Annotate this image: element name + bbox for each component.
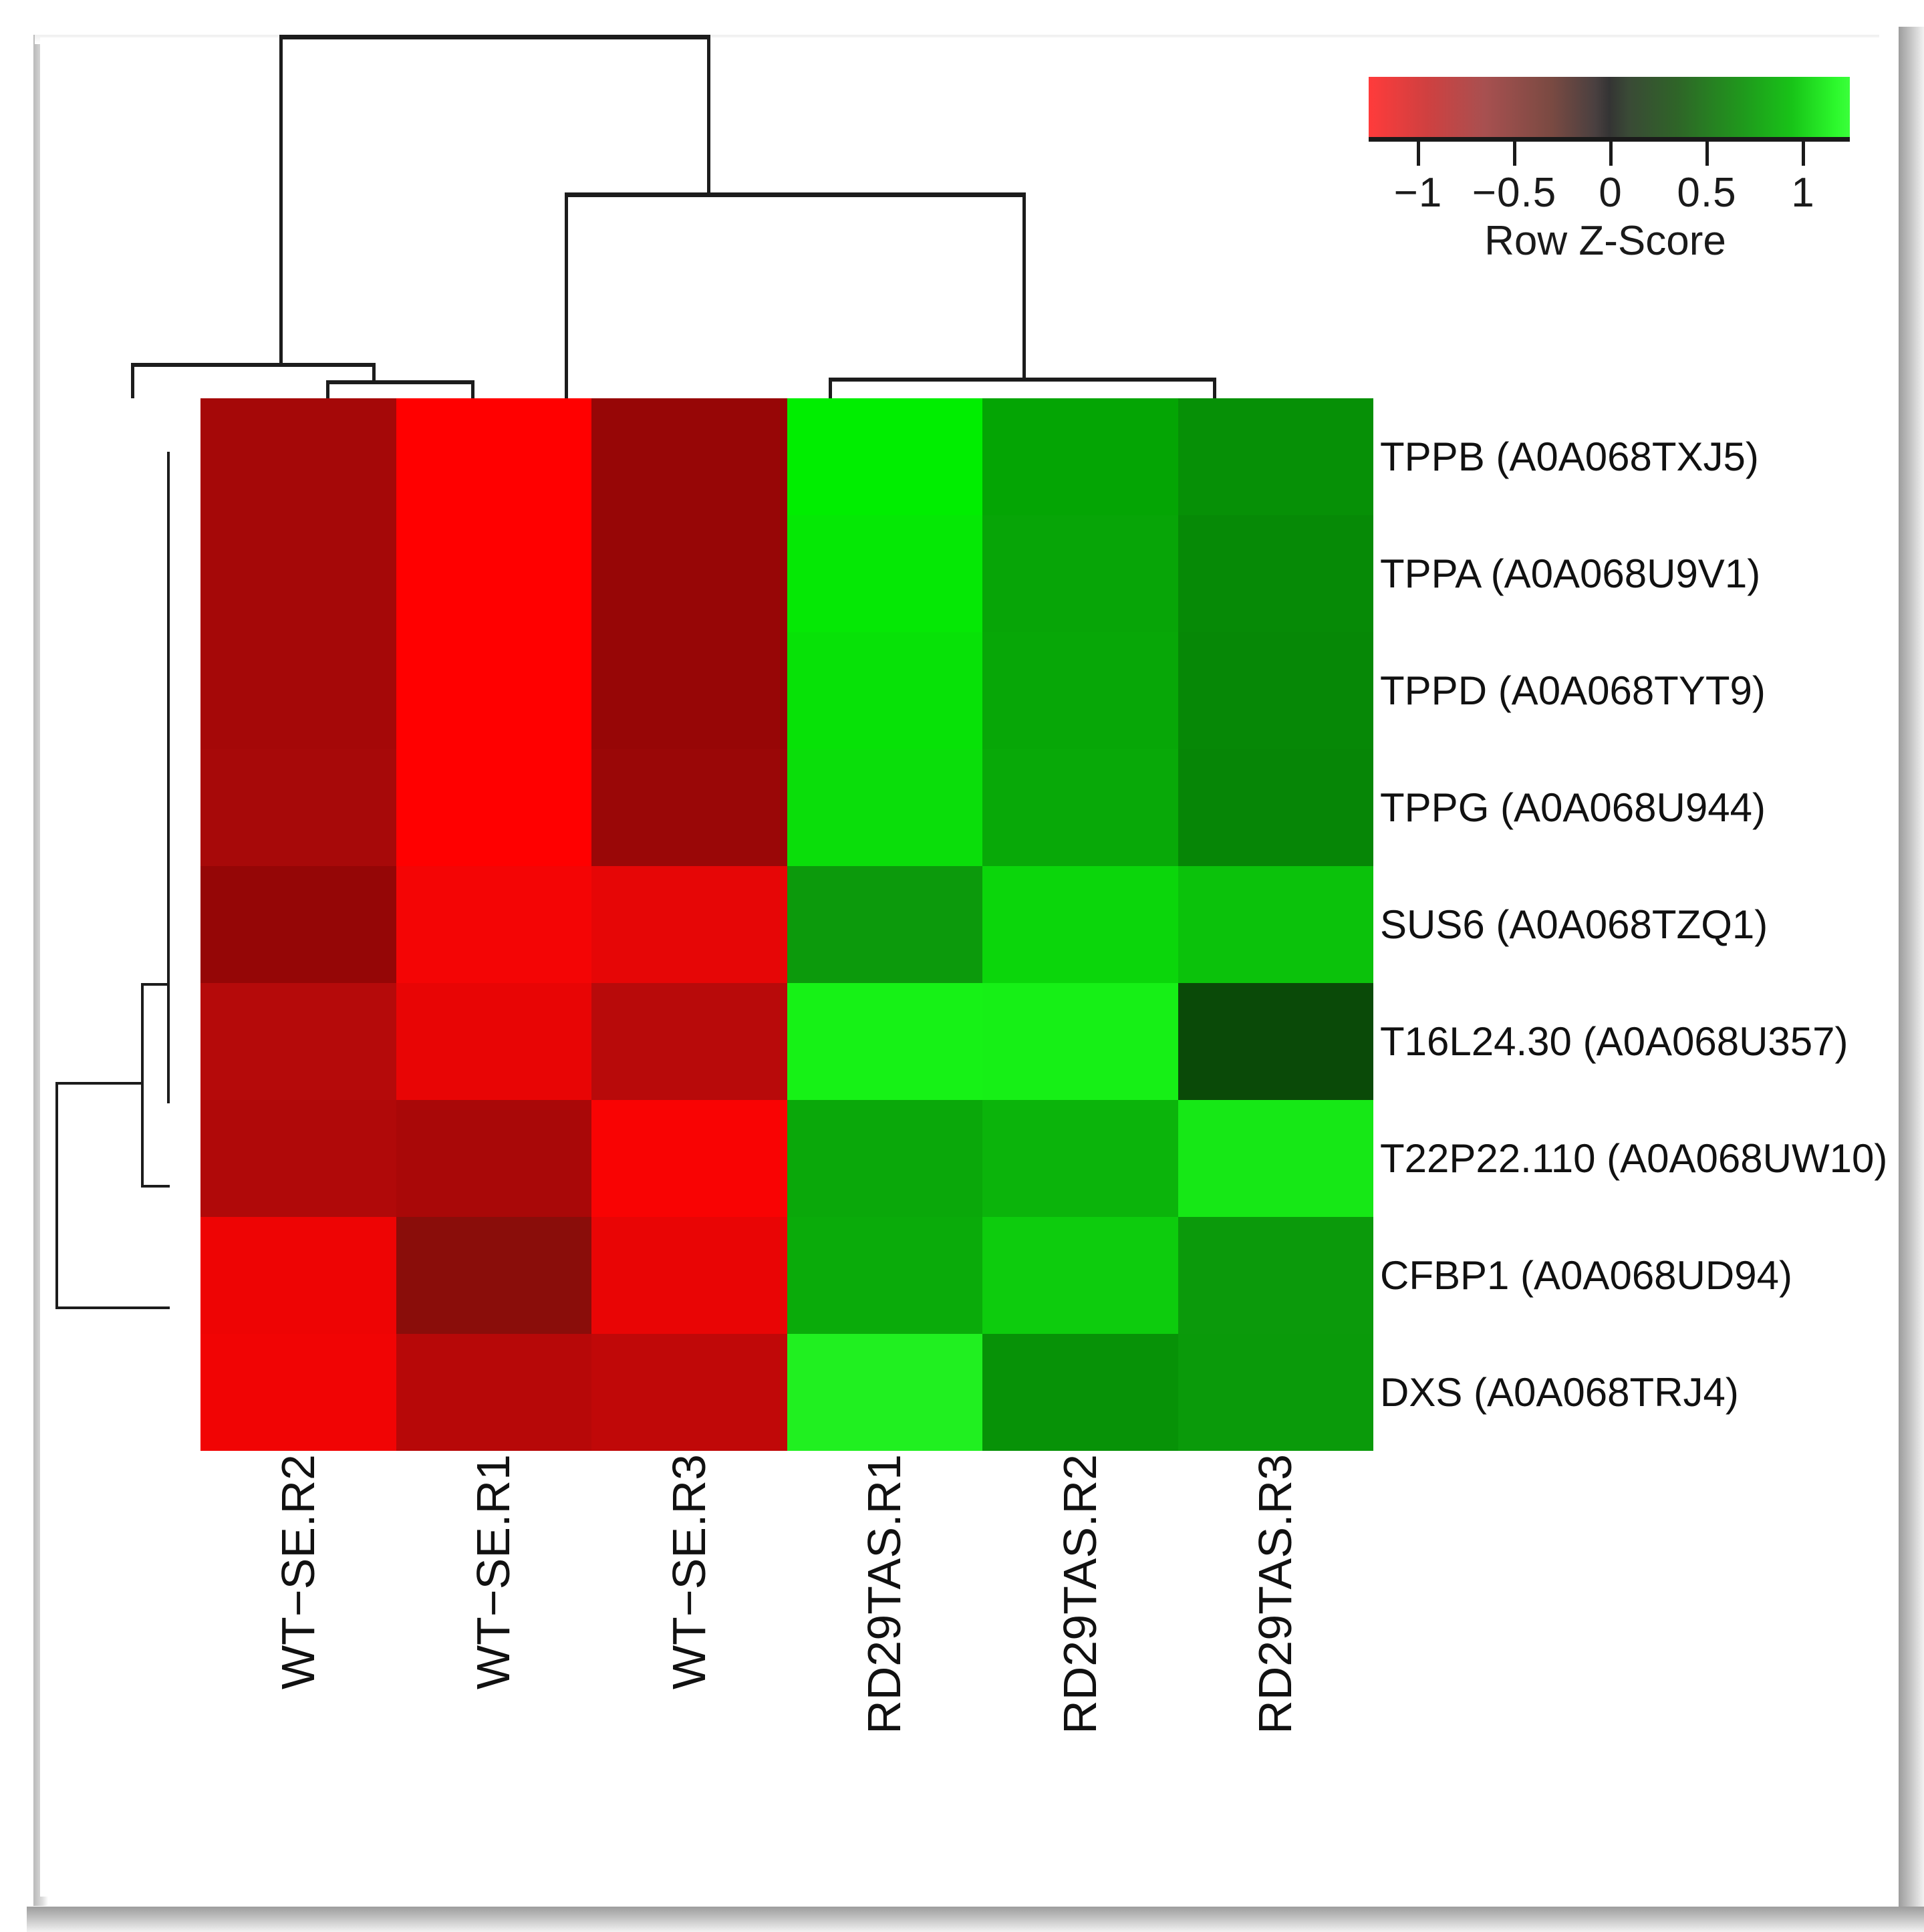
heatmap-cell bbox=[200, 866, 396, 983]
column-label-slot-3: RD29TAS.R1 bbox=[787, 1454, 982, 1882]
heatmap-cell bbox=[787, 632, 983, 749]
heatmap-cell bbox=[982, 866, 1178, 983]
heatmap-cell bbox=[787, 515, 983, 632]
heatmap-cell bbox=[396, 749, 592, 866]
row-label-list: TPPB (A0A068TXJ5) TPPA (A0A068U9V1) TPPD… bbox=[1380, 398, 1888, 1451]
heatmap-cell bbox=[200, 1334, 396, 1451]
heatmap-cell bbox=[982, 632, 1178, 749]
column-label-slot-2: WT−SE.R3 bbox=[591, 1454, 787, 1882]
heatmap-cell bbox=[1178, 983, 1374, 1100]
heatmap-cell bbox=[1178, 1100, 1374, 1217]
row-label-2: TPPD (A0A068TYT9) bbox=[1380, 632, 1766, 749]
row-label-4: SUS6 (A0A068TZQ1) bbox=[1380, 866, 1768, 983]
col-dendro-rd29-sub-horizontal bbox=[829, 378, 1216, 382]
frame-bevel-bottom bbox=[27, 1907, 1924, 1932]
heatmap-cell bbox=[1178, 866, 1374, 983]
heatmap-cell bbox=[787, 1100, 983, 1217]
column-label-slot-1: WT−SE.R1 bbox=[396, 1454, 591, 1882]
figure-frame: −1 −0.5 0 0.5 1 Row Z-Score bbox=[0, 0, 1924, 1932]
column-label-slot-4: RD29TAS.R2 bbox=[982, 1454, 1178, 1882]
col-dendro-root-left-vertical bbox=[279, 35, 283, 366]
row-label-8: DXS (A0A068TRJ4) bbox=[1380, 1334, 1739, 1451]
heatmap-cell bbox=[982, 749, 1178, 866]
heatmap-cell bbox=[591, 1334, 787, 1451]
heatmap-cell bbox=[982, 1334, 1178, 1451]
heatmap-cell bbox=[396, 398, 592, 515]
heatmap-cell bbox=[1178, 515, 1374, 632]
col-dendro-root-right-vertical bbox=[707, 35, 710, 195]
col-dendro-wt-leaf1-vertical bbox=[131, 363, 134, 398]
column-label-0: WT−SE.R2 bbox=[271, 1454, 325, 1689]
heatmap-cell bbox=[396, 866, 592, 983]
heatmap-cell bbox=[787, 749, 983, 866]
heatmap-cell bbox=[1178, 1217, 1374, 1334]
heatmap-cell bbox=[396, 515, 592, 632]
frame-bevel-right bbox=[1899, 27, 1924, 1932]
heatmap-cell bbox=[1178, 749, 1374, 866]
heatmap-cell bbox=[591, 1217, 787, 1334]
heatmap-cell bbox=[787, 983, 983, 1100]
heatmap-cell bbox=[396, 1334, 592, 1451]
heatmap-cell bbox=[1178, 1334, 1374, 1451]
heatmap-cell bbox=[787, 866, 983, 983]
col-dendro-rd29-leaf2-vertical bbox=[829, 378, 832, 399]
column-label-slot-0: WT−SE.R2 bbox=[200, 1454, 396, 1882]
col-dendro-rd29-leaf3-vertical bbox=[1213, 378, 1216, 399]
heatmap-cell bbox=[396, 983, 592, 1100]
heatmap-cell bbox=[591, 632, 787, 749]
heatmap-cell bbox=[1178, 398, 1374, 515]
heatmap-cell bbox=[200, 515, 396, 632]
row-label-3: TPPG (A0A068U944) bbox=[1380, 749, 1766, 866]
heatmap-cell bbox=[591, 749, 787, 866]
heatmap-cell bbox=[591, 398, 787, 515]
heatmap-cell bbox=[1178, 632, 1374, 749]
column-label-1: WT−SE.R1 bbox=[466, 1454, 520, 1689]
row-label-5: T16L24.30 (A0A068U357) bbox=[1380, 983, 1848, 1100]
heatmap-cell bbox=[200, 1100, 396, 1217]
column-label-list: WT−SE.R2 WT−SE.R1 WT−SE.R3 RD29TAS.R1 RD… bbox=[200, 1454, 1373, 1895]
heatmap-cell bbox=[982, 398, 1178, 515]
row-label-7: CFBP1 (A0A068UD94) bbox=[1380, 1217, 1792, 1334]
column-label-2: WT−SE.R3 bbox=[662, 1454, 716, 1689]
col-dendro-wt-leaf3-vertical bbox=[471, 380, 474, 399]
row-dendro-top-spine bbox=[167, 452, 170, 1103]
col-dendro-rd29-horizontal bbox=[565, 192, 1026, 197]
heatmap-cell bbox=[200, 632, 396, 749]
row-dendro-mid-bottom-horizontal bbox=[141, 1185, 170, 1188]
column-label-4: RD29TAS.R2 bbox=[1053, 1454, 1107, 1734]
heatmap-cell bbox=[591, 1100, 787, 1217]
row-label-1: TPPA (A0A068U9V1) bbox=[1380, 515, 1760, 632]
heatmap-cell bbox=[200, 398, 396, 515]
heatmap-cell bbox=[200, 983, 396, 1100]
heatmap-cell bbox=[982, 983, 1178, 1100]
heatmap-cell bbox=[591, 515, 787, 632]
heatmap-cell bbox=[787, 1217, 983, 1334]
col-dendro-wt-sub-horizontal bbox=[326, 380, 474, 384]
heatmap-cell bbox=[982, 515, 1178, 632]
heatmap-cell bbox=[396, 1100, 592, 1217]
column-label-slot-5: RD29TAS.R3 bbox=[1178, 1454, 1373, 1882]
heatmap-cell bbox=[591, 983, 787, 1100]
plot-canvas: −1 −0.5 0 0.5 1 Row Z-Score bbox=[40, 37, 1885, 1897]
row-dendro-mid-top-horizontal bbox=[141, 983, 170, 986]
col-dendro-root-horizontal bbox=[279, 35, 710, 39]
row-label-6: T22P22.110 (A0A068UW10) bbox=[1380, 1100, 1887, 1217]
column-label-3: RD29TAS.R1 bbox=[857, 1454, 911, 1734]
row-dendro-root-vertical bbox=[55, 1082, 58, 1309]
column-dendrogram bbox=[40, 37, 1885, 398]
col-dendro-rd29-leaf1-vertical bbox=[565, 192, 568, 398]
col-dendro-wt-horizontal bbox=[131, 363, 376, 367]
heatmap-cell bbox=[982, 1100, 1178, 1217]
heatmap-cell bbox=[982, 1217, 1178, 1334]
row-dendro-root-bottom-horizontal bbox=[55, 1306, 170, 1309]
heatmap-cell bbox=[787, 398, 983, 515]
heatmap-cell bbox=[396, 1217, 592, 1334]
row-dendro-mid-vertical bbox=[141, 983, 144, 1188]
heatmap-cell bbox=[787, 1334, 983, 1451]
heatmap-cell bbox=[396, 632, 592, 749]
col-dendro-wt-leaf2-vertical bbox=[326, 380, 329, 399]
heatmap-cell bbox=[200, 749, 396, 866]
row-dendro-root-top-horizontal bbox=[55, 1082, 142, 1085]
heatmap-matrix bbox=[200, 398, 1373, 1451]
row-label-0: TPPB (A0A068TXJ5) bbox=[1380, 398, 1759, 515]
col-dendro-rd29-sub-vertical bbox=[1022, 192, 1026, 381]
heatmap-cell bbox=[591, 866, 787, 983]
column-label-5: RD29TAS.R3 bbox=[1248, 1454, 1302, 1734]
heatmap-cell bbox=[200, 1217, 396, 1334]
